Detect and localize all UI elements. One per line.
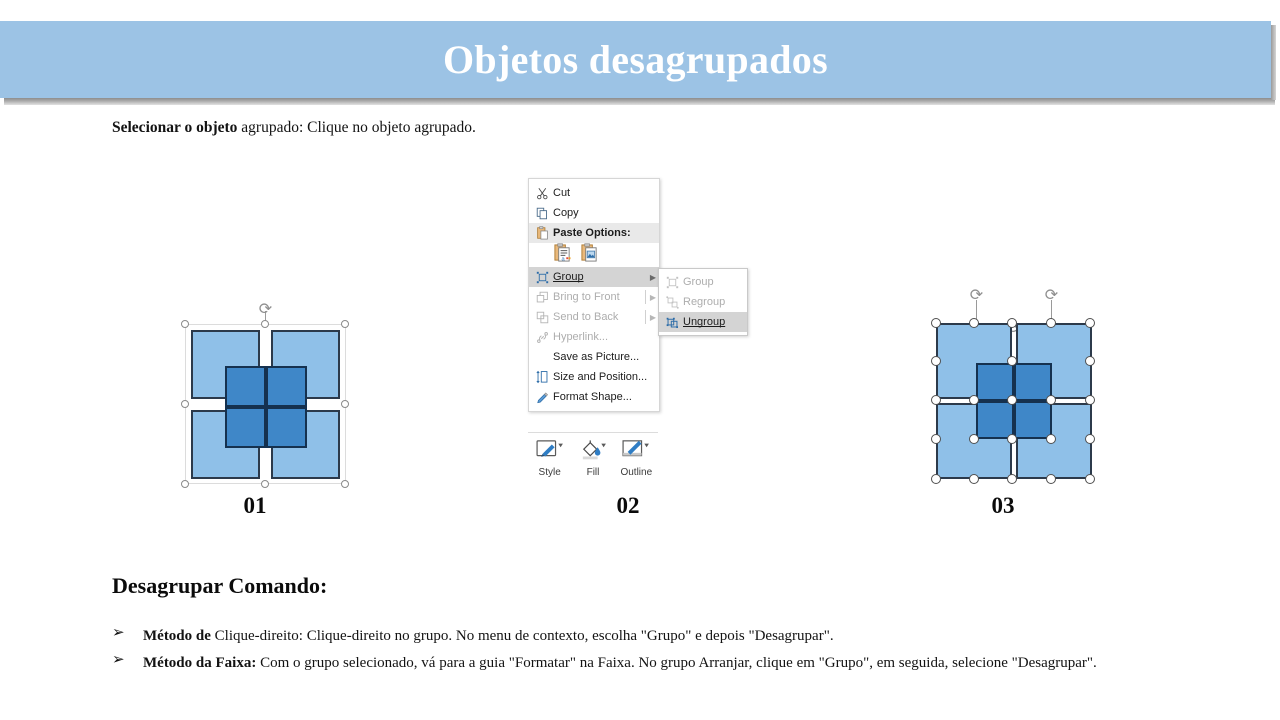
- resize-handle-ne[interactable]: [341, 320, 349, 328]
- scissors-icon: [531, 184, 553, 202]
- resize-handle[interactable]: [931, 356, 941, 366]
- menu-item-cut[interactable]: Cut: [529, 183, 659, 203]
- outline-pen-icon: [616, 439, 656, 465]
- ungroup-icon: [661, 313, 683, 331]
- menu-item-size-and-position[interactable]: Size and Position...: [529, 367, 659, 387]
- none-icon: [531, 348, 553, 366]
- resize-handle[interactable]: [969, 395, 979, 405]
- figure-caption-02: 02: [588, 493, 668, 519]
- title-banner-shadow: [4, 98, 1275, 105]
- menu-item-send-to-back[interactable]: Send to Back ▶: [529, 307, 659, 327]
- resize-handle[interactable]: [1085, 395, 1095, 405]
- bring-front-icon: [531, 288, 553, 306]
- paste-options-row[interactable]: a: [529, 243, 659, 267]
- format-shape-icon: [531, 388, 553, 406]
- resize-handle[interactable]: [1046, 474, 1056, 484]
- mini-toolbar[interactable]: Style Fill Outline: [528, 432, 658, 478]
- resize-handle-s[interactable]: [261, 480, 269, 488]
- menu-item-size-and-position-label: Size and Position...: [553, 371, 659, 383]
- paste-keep-source-formatting-icon[interactable]: a: [553, 243, 572, 268]
- group-submenu[interactable]: Group Regroup Ungroup: [658, 268, 748, 336]
- group-icon: [661, 273, 683, 291]
- resize-handle[interactable]: [931, 474, 941, 484]
- diagram-ungrouped-objects[interactable]: ⟳ ⟳ ⟳ ⟳ ⟳: [928, 282, 1100, 492]
- context-menu[interactable]: Cut Copy Paste Options: a Group ▶ Bring …: [528, 178, 660, 412]
- mini-tool-outline-label: Outline: [616, 467, 656, 478]
- menu-divider: [645, 290, 646, 304]
- resize-handle[interactable]: [931, 318, 941, 328]
- resize-handle[interactable]: [969, 474, 979, 484]
- list-item-bold: Método de: [143, 628, 215, 644]
- menu-item-paste-options-label: Paste Options:: [553, 227, 659, 239]
- rotate-handle-icon[interactable]: ⟳: [1043, 286, 1060, 303]
- resize-handle[interactable]: [931, 395, 941, 405]
- resize-handle[interactable]: [1085, 356, 1095, 366]
- submenu-item-group[interactable]: Group: [659, 272, 747, 292]
- resize-handle[interactable]: [969, 318, 979, 328]
- submenu-item-ungroup-label: Ungroup: [683, 316, 747, 328]
- copy-pages-icon: [531, 204, 553, 222]
- bullet-arrow-icon: ➢: [112, 650, 125, 668]
- shape-center-top-left[interactable]: [225, 366, 266, 407]
- resize-handle-n[interactable]: [261, 320, 269, 328]
- menu-item-group[interactable]: Group ▶: [529, 267, 659, 287]
- size-position-icon: [531, 368, 553, 386]
- shape-center-bottom-right[interactable]: [1014, 401, 1052, 439]
- menu-item-copy-label: Copy: [553, 207, 659, 219]
- list-item-rest: Clique-direito: Clique-direito no grupo.…: [215, 628, 834, 644]
- intro-bold: Selecionar o objeto: [112, 119, 237, 136]
- submenu-item-ungroup[interactable]: Ungroup: [659, 312, 747, 332]
- resize-handle[interactable]: [1007, 395, 1017, 405]
- resize-handle[interactable]: [1007, 356, 1017, 366]
- paste-picture-icon[interactable]: [580, 243, 599, 268]
- resize-handle-sw[interactable]: [181, 480, 189, 488]
- resize-handle[interactable]: [1007, 474, 1017, 484]
- resize-handle[interactable]: [931, 434, 941, 444]
- shape-center-bottom-left[interactable]: [225, 407, 266, 448]
- shape-center-bottom-right[interactable]: [266, 407, 307, 448]
- mini-tool-fill[interactable]: Fill: [573, 439, 613, 478]
- shape-center-bottom-left[interactable]: [976, 401, 1014, 439]
- regroup-icon: [661, 293, 683, 311]
- figure-caption-03: 03: [963, 493, 1043, 519]
- menu-item-group-label: Group: [553, 271, 647, 283]
- resize-handle-e[interactable]: [341, 400, 349, 408]
- intro-rest: agrupado: Clique no objeto agrupado.: [237, 119, 475, 136]
- submenu-item-regroup[interactable]: Regroup: [659, 292, 747, 312]
- mini-tool-outline[interactable]: Outline: [616, 439, 656, 478]
- resize-handle[interactable]: [1046, 434, 1056, 444]
- page-title: Objetos desagrupados: [0, 21, 1271, 98]
- group-shapes-icon: [531, 268, 553, 286]
- resize-handle-w[interactable]: [181, 400, 189, 408]
- resize-handle-se[interactable]: [341, 480, 349, 488]
- mini-tool-style[interactable]: Style: [530, 439, 570, 478]
- menu-item-hyperlink-label: Hyperlink...: [553, 331, 659, 343]
- menu-item-bring-to-front-label: Bring to Front: [553, 291, 647, 303]
- resize-handle[interactable]: [1085, 474, 1095, 484]
- figure-caption-01: 01: [215, 493, 295, 519]
- resize-handle[interactable]: [1046, 318, 1056, 328]
- list-item-bold: Método da Faixa:: [143, 655, 260, 671]
- clipboard-icon: [531, 224, 553, 242]
- bullet-arrow-icon: ➢: [112, 623, 125, 641]
- menu-item-copy[interactable]: Copy: [529, 203, 659, 223]
- menu-item-format-shape[interactable]: Format Shape...: [529, 387, 659, 407]
- resize-handle[interactable]: [1085, 318, 1095, 328]
- toolbar-divider: [528, 432, 658, 433]
- list-item: ➢ Método de Clique-direito: Clique-direi…: [112, 623, 1112, 649]
- hyperlink-icon: [531, 328, 553, 346]
- list-item-text: Método de Clique-direito: Clique-direito…: [143, 623, 1112, 649]
- menu-item-paste-options: Paste Options:: [529, 223, 659, 243]
- rotate-handle-icon[interactable]: ⟳: [968, 286, 985, 303]
- intro-text: Selecionar o objeto agrupado: Clique no …: [112, 119, 476, 137]
- fill-bucket-icon: [573, 439, 613, 465]
- resize-handle-nw[interactable]: [181, 320, 189, 328]
- list-item-text: Método da Faixa: Com o grupo selecionado…: [143, 650, 1112, 676]
- resize-handle[interactable]: [969, 434, 979, 444]
- submenu-item-regroup-label: Regroup: [683, 296, 747, 308]
- shape-center-top-right[interactable]: [266, 366, 307, 407]
- list-item: ➢ Método da Faixa: Com o grupo seleciona…: [112, 650, 1112, 676]
- mini-tool-style-label: Style: [530, 467, 570, 478]
- shape-style-icon: [530, 439, 570, 465]
- command-section-heading: Desagrupar Comando:: [112, 573, 327, 599]
- menu-item-format-shape-label: Format Shape...: [553, 391, 659, 403]
- menu-item-save-as-picture[interactable]: Save as Picture...: [529, 347, 659, 367]
- submenu-item-group-label: Group: [683, 276, 747, 288]
- resize-handle[interactable]: [1007, 434, 1017, 444]
- shape-center-top-right[interactable]: [1014, 363, 1052, 401]
- mini-tool-fill-label: Fill: [573, 467, 613, 478]
- resize-handle[interactable]: [1085, 434, 1095, 444]
- send-back-icon: [531, 308, 553, 326]
- rotate-handle-icon[interactable]: ⟳: [257, 300, 274, 317]
- title-banner-shadow-right: [1271, 25, 1276, 100]
- menu-item-send-to-back-label: Send to Back: [553, 311, 647, 323]
- resize-handle[interactable]: [1046, 395, 1056, 405]
- resize-handle[interactable]: [1007, 318, 1017, 328]
- menu-item-bring-to-front[interactable]: Bring to Front ▶: [529, 287, 659, 307]
- menu-item-save-as-picture-label: Save as Picture...: [553, 351, 659, 363]
- menu-item-hyperlink[interactable]: Hyperlink...: [529, 327, 659, 347]
- diagram-grouped-object[interactable]: ⟳: [180, 305, 350, 490]
- menu-item-cut-label: Cut: [553, 187, 659, 199]
- menu-divider: [645, 310, 646, 324]
- list-item-rest: Com o grupo selecionado, vá para a guia …: [260, 655, 1097, 671]
